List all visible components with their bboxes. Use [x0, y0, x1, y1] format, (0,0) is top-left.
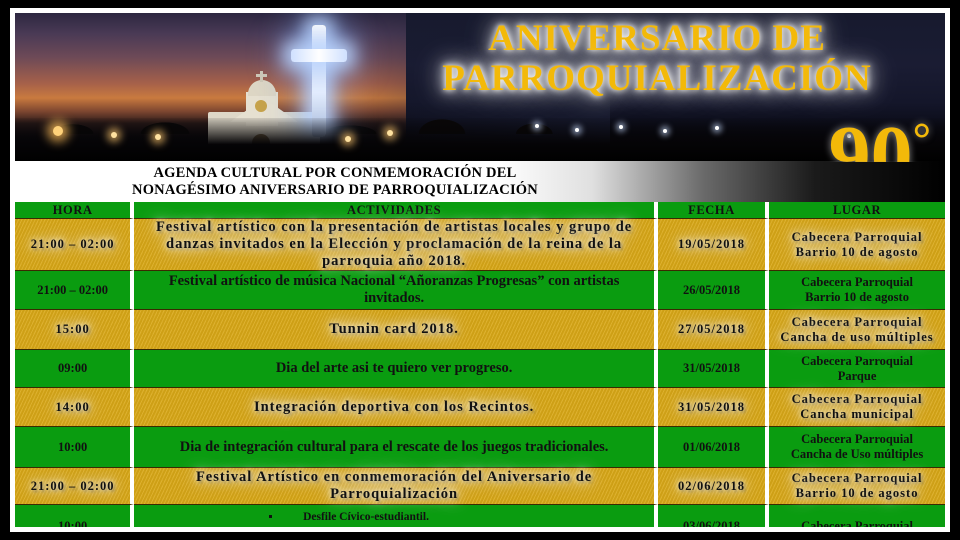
- lugar-line-2: Barrio 10 de agosto: [773, 486, 941, 501]
- city-light-icon: [575, 128, 579, 132]
- street-lamp-icon: [387, 130, 393, 136]
- cell-lugar: Cabecera ParroquialCancha de uso múltipl…: [769, 310, 945, 350]
- bullet-dot-icon: [269, 515, 272, 518]
- lugar-line-2: Cancha de Uso múltiples: [773, 447, 941, 462]
- cell-hora: 21:00 – 02:00: [15, 468, 134, 505]
- title-line-2: PARROQUIALIZACIÓN: [377, 59, 937, 99]
- cell-actividad: Festival artístico con la presentación d…: [134, 219, 658, 271]
- table-body: 21:00 – 02:00Festival artístico con la p…: [15, 219, 945, 532]
- lugar-line-1: Cabecera Parroquial: [773, 275, 941, 290]
- column-header-fecha: FECHA: [658, 202, 769, 219]
- cell-fecha: 31/05/2018: [658, 350, 769, 388]
- activity-bullet-text: Sesión Conmemorativa: [317, 531, 431, 533]
- church-dome: [248, 80, 276, 96]
- lugar-line-2: Cancha de uso múltiples: [773, 330, 941, 345]
- cell-fecha: 31/05/2018: [658, 388, 769, 427]
- table-row: 21:00 – 02:00Festival Artístico en conme…: [15, 468, 945, 505]
- cell-fecha: 03/06/2018: [658, 505, 769, 532]
- cell-lugar: Cabecera Parroquial: [769, 505, 945, 532]
- activity-bullet-text: Desfile Cívico-estudiantil.: [303, 511, 429, 523]
- city-light-icon: [715, 126, 719, 130]
- street-lamp-icon: [53, 126, 63, 136]
- cell-fecha: 26/05/2018: [658, 271, 769, 310]
- activity-bullet-item: Sesión Conmemorativa: [269, 527, 519, 533]
- cell-hora: 21:00 – 02:00: [15, 219, 134, 271]
- subtitle-line-2: NONAGÉSIMO ANIVERSARIO DE PARROQUIALIZAC…: [132, 182, 538, 199]
- cell-lugar: Cabecera ParroquialCancha municipal: [769, 388, 945, 427]
- cross-horizontal: [291, 49, 347, 62]
- cell-actividad: Dia de integración cultural para el resc…: [134, 427, 658, 468]
- city-light-icon: [619, 125, 623, 129]
- cell-hora: 21:00 – 02:00: [15, 271, 134, 310]
- cell-actividad: Integración deportiva con los Recintos.: [134, 388, 658, 427]
- lugar-line-2: Cancha municipal: [773, 407, 941, 422]
- lugar-line-2: Barrio 10 de agosto: [773, 245, 941, 260]
- lugar-line-1: Cabecera Parroquial: [773, 471, 941, 486]
- cell-hora: 10:00: [15, 427, 134, 468]
- cell-lugar: Cabecera ParroquialParque: [769, 350, 945, 388]
- column-header-hora: HORA: [15, 202, 134, 219]
- activity-bullet-list: Desfile Cívico-estudiantil.Sesión Conmem…: [269, 507, 519, 533]
- table-row: 15:00Tunnin card 2018.27/05/2018Cabecera…: [15, 310, 945, 350]
- street-lamp-icon: [155, 134, 161, 140]
- lugar-line-2: Barrio 10 de agosto: [773, 290, 941, 305]
- table-row: 21:00 – 02:00Festival artístico de músic…: [15, 271, 945, 310]
- table-row: 21:00 – 02:00Festival artístico con la p…: [15, 219, 945, 271]
- table-row: 14:00Integración deportiva con los Recin…: [15, 388, 945, 427]
- lugar-line-2: Parque: [773, 369, 941, 384]
- cell-actividad: Tunnin card 2018.: [134, 310, 658, 350]
- title-line-1: ANIVERSARIO DE: [377, 19, 937, 59]
- cell-fecha: 27/05/2018: [658, 310, 769, 350]
- subtitle-line-1: AGENDA CULTURAL POR CONMEMORACIÓN DEL: [154, 165, 517, 182]
- lugar-line-1: Cabecera Parroquial: [773, 354, 941, 369]
- street-lamp-icon: [111, 132, 117, 138]
- lugar-line-1: Cabecera Parroquial: [773, 230, 941, 245]
- subtitle-band: AGENDA CULTURAL POR CONMEMORACIÓN DEL NO…: [15, 161, 945, 202]
- poster-root: ANIVERSARIO DE PARROQUIALIZACIÓN 90° AGE…: [0, 0, 960, 540]
- cell-lugar: Cabecera ParroquialBarrio 10 de agosto: [769, 468, 945, 505]
- cell-fecha: 02/06/2018: [658, 468, 769, 505]
- cell-actividad: Dia del arte asi te quiero ver progreso.: [134, 350, 658, 388]
- lugar-line-1: Cabecera Parroquial: [773, 392, 941, 407]
- table-row: 10:00Dia de integración cultural para el…: [15, 427, 945, 468]
- poster-title: ANIVERSARIO DE PARROQUIALIZACIÓN: [377, 19, 937, 99]
- cell-hora: 15:00: [15, 310, 134, 350]
- cell-lugar: Cabecera ParroquialBarrio 10 de agosto: [769, 219, 945, 271]
- cell-hora: 10:00: [15, 505, 134, 532]
- agenda-table-wrap: HORA ACTIVIDADES FECHA LUGAR 21:00 – 02:…: [15, 202, 945, 532]
- horizon-darkening: [15, 118, 945, 162]
- table-header: HORA ACTIVIDADES FECHA LUGAR: [15, 202, 945, 219]
- agenda-table: HORA ACTIVIDADES FECHA LUGAR 21:00 – 02:…: [15, 202, 945, 532]
- cell-lugar: Cabecera ParroquialCancha de Uso múltipl…: [769, 427, 945, 468]
- lugar-line-1: Cabecera Parroquial: [773, 432, 941, 447]
- table-row: 10:00Desfile Cívico-estudiantil.Sesión C…: [15, 505, 945, 532]
- degree-symbol: °: [913, 113, 931, 162]
- subtitle-text: AGENDA CULTURAL POR CONMEMORACIÓN DEL NO…: [15, 161, 655, 202]
- cell-actividad: Desfile Cívico-estudiantil.Sesión Conmem…: [134, 505, 658, 532]
- city-light-icon: [663, 129, 667, 133]
- lugar-line-1: Cabecera Parroquial: [773, 519, 941, 532]
- church-cross-icon: [260, 71, 263, 82]
- column-header-lugar: LUGAR: [769, 202, 945, 219]
- cell-fecha: 19/05/2018: [658, 219, 769, 271]
- activity-bullet-item: Desfile Cívico-estudiantil.: [269, 507, 519, 527]
- lugar-line-1: Cabecera Parroquial: [773, 315, 941, 330]
- cell-lugar: Cabecera ParroquialBarrio 10 de agosto: [769, 271, 945, 310]
- street-lamp-icon: [345, 136, 351, 142]
- anniversary-number-value: 90: [829, 109, 913, 162]
- header-row: HORA ACTIVIDADES FECHA LUGAR: [15, 202, 945, 219]
- anniversary-number: 90°: [829, 97, 931, 162]
- banner-photo: ANIVERSARIO DE PARROQUIALIZACIÓN 90°: [15, 13, 945, 162]
- cell-fecha: 01/06/2018: [658, 427, 769, 468]
- table-row: 09:00Dia del arte asi te quiero ver prog…: [15, 350, 945, 388]
- column-header-actividades: ACTIVIDADES: [134, 202, 658, 219]
- church-clock-window: [255, 100, 267, 112]
- poster-frame: ANIVERSARIO DE PARROQUIALIZACIÓN 90° AGE…: [10, 8, 950, 532]
- cell-hora: 14:00: [15, 388, 134, 427]
- cell-actividad: Festival Artístico en conmemoración del …: [134, 468, 658, 505]
- cell-actividad: Festival artístico de música Nacional “A…: [134, 271, 658, 310]
- cell-hora: 09:00: [15, 350, 134, 388]
- city-light-icon: [535, 124, 539, 128]
